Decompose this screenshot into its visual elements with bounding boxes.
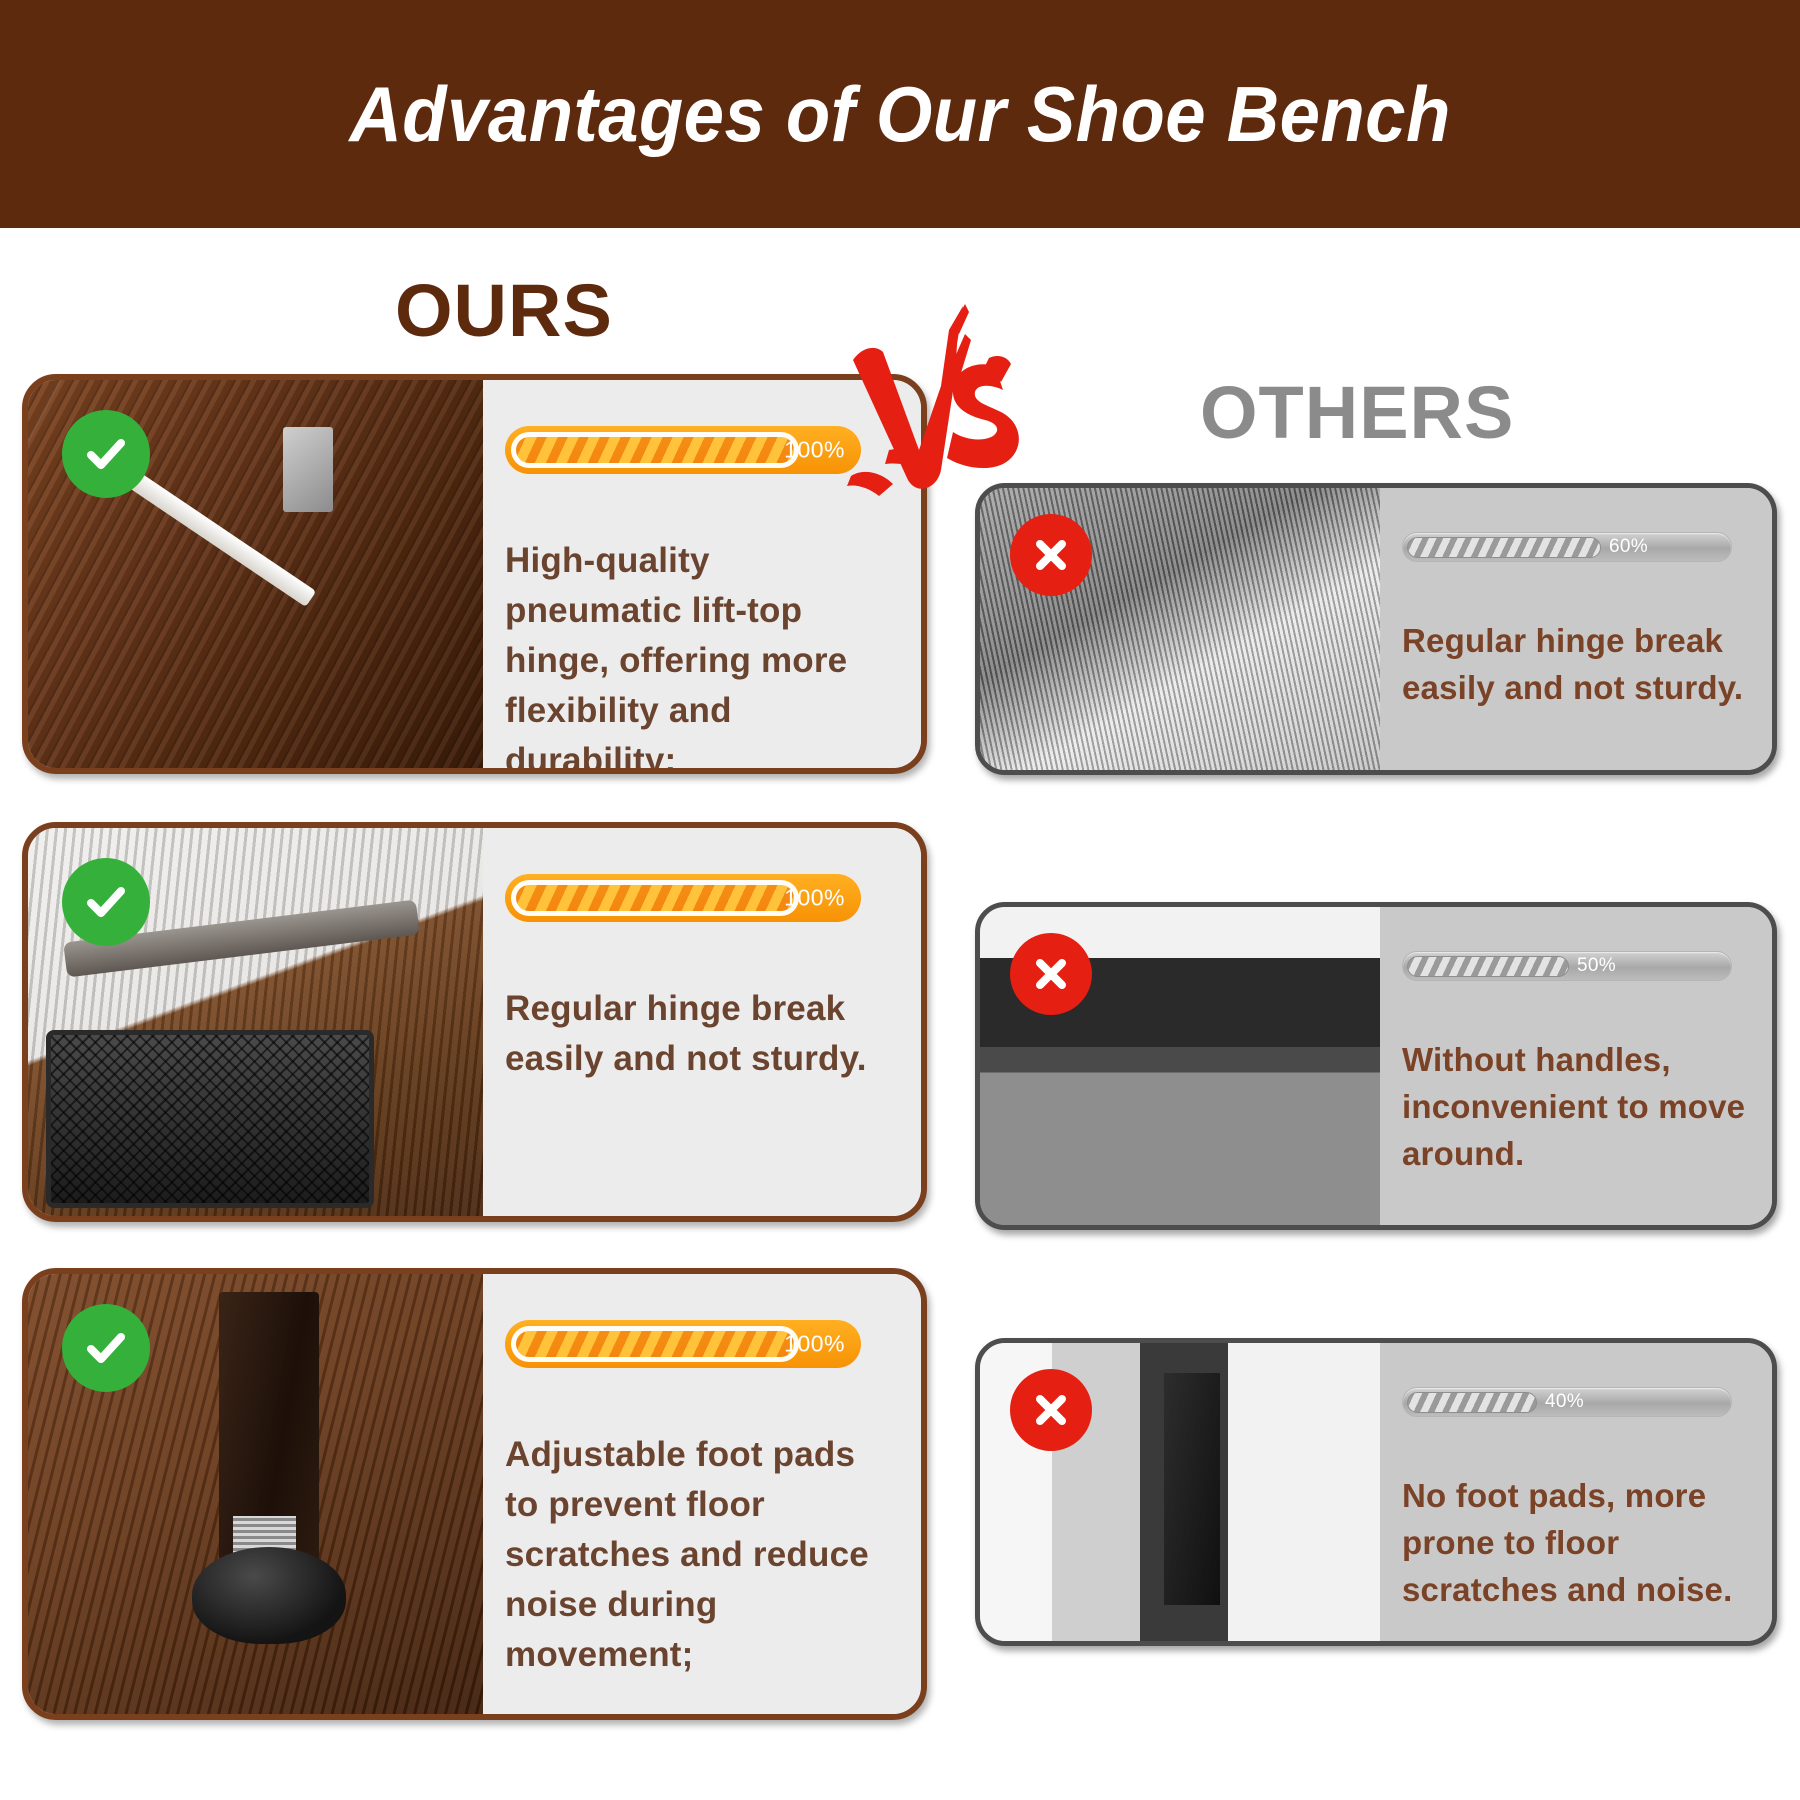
progress-bar-ours-1: 100% — [505, 426, 861, 474]
no-handle-bench-photo — [980, 907, 1380, 1225]
ours-panel-3: 100% Adjustable foot pads to prevent flo… — [483, 1274, 921, 1714]
ours-caption-2: Regular hinge break easily and not sturd… — [505, 984, 885, 1084]
others-card-2[interactable]: 50% Without handles, inconvenient to mov… — [975, 902, 1777, 1230]
others-panel-2: 50% Without handles, inconvenient to mov… — [1380, 907, 1772, 1225]
column-label-ours: OURS — [395, 268, 613, 353]
column-label-others: OTHERS — [1200, 370, 1514, 455]
progress-percent-label: 40% — [1545, 1391, 1584, 1413]
side-basket-photo — [28, 828, 483, 1216]
progress-percent-label: 50% — [1577, 955, 1616, 977]
ours-card-1[interactable]: 100% High-quality pneumatic lift-top hin… — [22, 374, 927, 774]
progress-bar-others-2: 50% — [1402, 951, 1732, 981]
page-title: Advantages of Our Shoe Bench — [349, 69, 1450, 160]
check-icon — [62, 410, 150, 498]
progress-percent-label: 100% — [784, 885, 845, 912]
progress-percent-label: 100% — [784, 437, 845, 464]
ours-card-3[interactable]: 100% Adjustable foot pads to prevent flo… — [22, 1268, 927, 1720]
others-caption-3: No foot pads, more prone to floor scratc… — [1402, 1473, 1746, 1614]
ours-caption-3: Adjustable foot pads to prevent floor sc… — [505, 1430, 885, 1680]
cross-icon — [1010, 933, 1092, 1015]
cross-icon — [1010, 514, 1092, 596]
progress-bar-ours-2: 100% — [505, 874, 861, 922]
broken-hinge-photo — [980, 488, 1380, 770]
ours-panel-1: 100% High-quality pneumatic lift-top hin… — [483, 380, 921, 768]
others-caption-2: Without handles, inconvenient to move ar… — [1402, 1037, 1746, 1178]
check-icon — [62, 858, 150, 946]
ours-panel-2: 100% Regular hinge break easily and not … — [483, 828, 921, 1216]
ours-caption-1: High-quality pneumatic lift-top hinge, o… — [505, 536, 885, 774]
cross-icon — [1010, 1369, 1092, 1451]
progress-bar-others-3: 40% — [1402, 1387, 1732, 1417]
others-panel-1: 60% Regular hinge break easily and not s… — [1380, 488, 1772, 770]
check-icon — [62, 1304, 150, 1392]
bare-leg-photo — [980, 1343, 1380, 1641]
others-card-1[interactable]: 60% Regular hinge break easily and not s… — [975, 483, 1777, 775]
progress-percent-label: 100% — [784, 1331, 845, 1358]
progress-percent-label: 60% — [1609, 536, 1648, 558]
others-card-3[interactable]: 40% No foot pads, more prone to floor sc… — [975, 1338, 1777, 1646]
lift-top-hinge-photo — [28, 380, 483, 768]
progress-bar-others-1: 60% — [1402, 532, 1732, 562]
adjustable-foot-pad-photo — [28, 1274, 483, 1714]
others-panel-3: 40% No foot pads, more prone to floor sc… — [1380, 1343, 1772, 1641]
header-banner: Advantages of Our Shoe Bench — [0, 0, 1800, 228]
ours-card-2[interactable]: 100% Regular hinge break easily and not … — [22, 822, 927, 1222]
progress-bar-ours-3: 100% — [505, 1320, 861, 1368]
others-caption-1: Regular hinge break easily and not sturd… — [1402, 618, 1746, 712]
